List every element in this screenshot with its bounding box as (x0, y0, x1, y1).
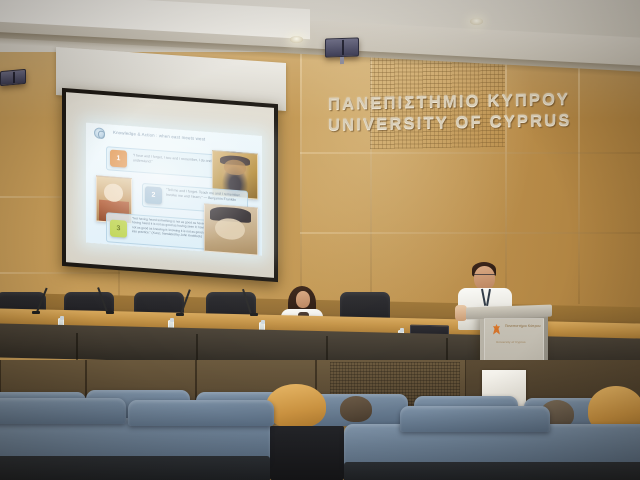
downlight-icon (290, 36, 303, 43)
slide-quote-number: 3 (110, 219, 127, 237)
wall-sign: ΠΑΝΕΠΙΣΤΗΜΙΟ ΚΥΠΡΟΥ UNIVERSITY OF CYPRUS (328, 89, 628, 135)
presenter-head (474, 266, 495, 290)
panelist-head (296, 291, 310, 308)
podium-sub-text: University of Cyprus (496, 340, 542, 344)
audience-seat (400, 406, 550, 432)
glasses-icon (474, 274, 495, 278)
downlight-icon (470, 18, 483, 25)
wall-seam (578, 46, 580, 304)
audience-seat (0, 398, 126, 424)
slide-quote-number: 2 (145, 186, 162, 204)
seat-base-shadow (0, 456, 270, 480)
slide-title: Knowledge & Action : when east meets wes… (113, 130, 253, 146)
projected-slide: Knowledge & Action : when east meets wes… (86, 123, 262, 256)
wall-speaker-left (0, 69, 26, 86)
wall-speaker-right (325, 37, 359, 57)
lecture-hall-photo: ΠΑΝΕΠΙΣΤΗΜΙΟ ΚΥΠΡΟΥ UNIVERSITY OF CYPRUS… (0, 0, 640, 480)
wall-seam (505, 46, 507, 304)
podium-greek-text: Πανεπιστήμιο Κύπρου (505, 324, 543, 329)
wall-seam (300, 46, 302, 304)
wall-seam (0, 272, 120, 274)
slide-quote-number: 1 (110, 149, 127, 167)
audience-member-centre (340, 396, 372, 422)
xunzi-portrait (204, 204, 258, 256)
speaker-mount (340, 57, 344, 64)
screen-surface: Knowledge & Action : when east meets wes… (66, 92, 274, 278)
microphone-base (106, 311, 114, 314)
microphone-base (176, 313, 184, 316)
seat-base-shadow (344, 462, 640, 480)
seat-gap (270, 426, 344, 480)
wall-seam (300, 152, 640, 154)
microphone-base (250, 313, 258, 316)
projection-screen: Knowledge & Action : when east meets wes… (62, 88, 278, 282)
microphone-base (32, 311, 40, 314)
university-seal-icon (94, 127, 105, 139)
audience-member-blonde-left (266, 384, 326, 428)
wall-seam (300, 232, 640, 234)
audience-seat (128, 400, 274, 426)
